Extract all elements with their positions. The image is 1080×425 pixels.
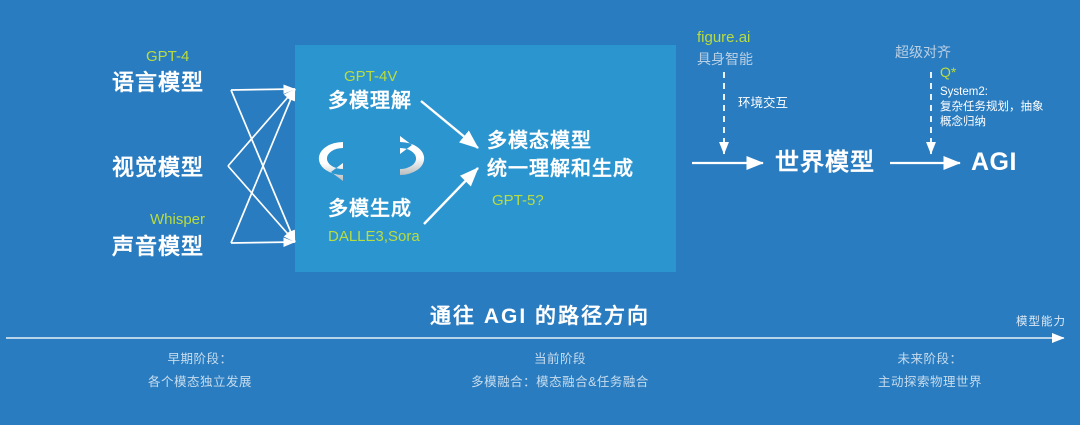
tag-figure-ai: figure.ai [697, 29, 750, 47]
label-vision-model: 视觉模型 [112, 155, 204, 181]
axis-caption: 模型能力 [1016, 313, 1066, 329]
stage-early-desc: 各个模态独立发展 [60, 371, 340, 394]
panel-converge-arrows [421, 101, 478, 224]
tag-gpt5: GPT-5? [492, 192, 544, 210]
stage-future-name: 未来阶段： [790, 348, 1070, 371]
axis-title: 通往 AGI 的路径方向 [0, 300, 1080, 330]
label-world-model: 世界模型 [775, 149, 875, 177]
circular-arrows-icon [319, 136, 424, 181]
label-unified-model-line2: 统一理解和生成 [487, 158, 634, 182]
stage-future: 未来阶段： 主动探索物理世界 [790, 348, 1070, 394]
tag-q-star: Q* [940, 64, 956, 81]
stage-early: 早期阶段： 各个模态独立发展 [60, 348, 340, 394]
stage-current-name: 当前阶段 [400, 348, 720, 371]
diagram-canvas: GPT-4 语言模型 视觉模型 Whisper 声音模型 GPT-4V 多模理解… [0, 0, 1080, 425]
label-embodied-intelligence: 具身智能 [697, 51, 753, 68]
stage-early-name: 早期阶段： [60, 348, 340, 371]
label-language-model: 语言模型 [112, 70, 204, 96]
note-system2-line3: 概念归纳 [940, 115, 986, 131]
label-multimodal-generation: 多模生成 [328, 198, 412, 222]
label-audio-model: 声音模型 [112, 234, 204, 260]
edge-label-environment-interaction: 环境交互 [738, 95, 788, 112]
tag-gpt4v: GPT-4V [344, 68, 397, 86]
label-multimodal-understanding: 多模理解 [328, 90, 412, 114]
stage-current: 当前阶段 多模融合：模态融合&任务融合 [400, 348, 720, 394]
tag-gpt4: GPT-4 [146, 48, 189, 66]
note-system2-line2: 复杂任务规划，抽象 [940, 100, 1044, 116]
stage-future-desc: 主动探索物理世界 [790, 371, 1070, 394]
label-unified-model-line1: 多模态模型 [487, 130, 592, 154]
tag-whisper: Whisper [150, 211, 205, 229]
stage-current-desc: 多模融合：模态融合&任务融合 [400, 371, 720, 394]
modality-fan [228, 89, 295, 243]
note-system2-title: System2: [940, 85, 988, 101]
label-super-alignment: 超级对齐 [895, 44, 951, 61]
tag-dalle3-sora: DALLE3,Sora [328, 228, 420, 246]
label-agi: AGI [971, 148, 1017, 178]
